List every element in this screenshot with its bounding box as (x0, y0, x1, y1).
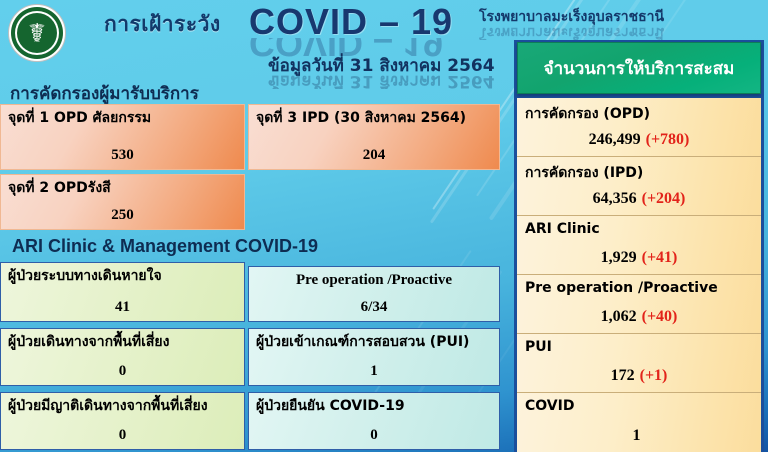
cumulative-row-screening-opd: การคัดกรอง (OPD) 246,499(+780) (517, 98, 761, 157)
row-value-wrap: 1,929(+41) (517, 249, 761, 267)
card-value: 0 (249, 427, 499, 444)
page-title-covid19: COVID – 19 (249, 1, 453, 43)
card-label: จุดที่ 3 IPD (30 สิงหาคม 2564) (256, 110, 494, 127)
ari-card-pre-operation-proactive: Pre operation /Proactive 6/34 (248, 266, 500, 322)
screening-card-opd-radiology: จุดที่ 2 OPDรังสี 250 (0, 174, 245, 230)
page-title-thai: การเฝ้าระวัง (104, 8, 221, 41)
card-label: ผู้ป่วยระบบทางเดินหายใจ (8, 268, 239, 285)
card-label: ผู้ป่วยเข้าเกณฑ์การสอบสวน (PUI) (256, 334, 494, 351)
card-label: Pre operation /Proactive (249, 272, 499, 289)
row-label: การคัดกรอง (IPD) (525, 162, 643, 184)
covid-surveillance-dashboard: ☤ การเฝ้าระวัง COVID – 19 COVID – 19 โรง… (0, 0, 768, 452)
card-value: 250 (1, 207, 244, 224)
row-delta: (+1) (640, 367, 668, 384)
row-label: ARI Clinic (525, 221, 600, 237)
cumulative-panel-heading: จำนวนการให้บริการสะสม (517, 42, 761, 94)
cumulative-row-screening-ipd: การคัดกรอง (IPD) 64,356(+204) (517, 157, 761, 216)
ari-card-respiratory-patients: ผู้ป่วยระบบทางเดินหายใจ 41 (0, 262, 245, 322)
screening-card-opd-surgery: จุดที่ 1 OPD ศัลยกรรม 530 (0, 104, 245, 170)
row-label: การคัดกรอง (OPD) (525, 103, 650, 125)
row-value-wrap: 64,356(+204) (517, 190, 761, 208)
ari-section-heading: ARI Clinic & Management COVID-19 (12, 236, 318, 257)
ari-card-relative-travel-from-risk-area: ผู้ป่วยมีญาติเดินทางจากพื้นที่เสี่ยง 0 (0, 392, 245, 450)
screening-section-heading: การคัดกรองผู้มารับบริการ (10, 80, 199, 107)
cumulative-row-pui: PUI 172(+1) (517, 334, 761, 393)
card-value: 0 (1, 363, 244, 380)
cumulative-heading-text: จำนวนการให้บริการสะสม (544, 55, 735, 82)
ari-card-pui: ผู้ป่วยเข้าเกณฑ์การสอบสวน (PUI) 1 (248, 328, 500, 386)
row-value: 1,062 (601, 308, 637, 325)
row-value: 64,356 (593, 190, 637, 207)
row-label: PUI (525, 339, 552, 355)
card-value: 530 (1, 147, 244, 164)
card-label: ผู้ป่วยยืนยัน COVID-19 (256, 398, 494, 415)
cumulative-row-covid: COVID 1 (517, 393, 761, 452)
row-delta: (+40) (642, 308, 678, 325)
ari-card-confirmed-covid19: ผู้ป่วยยืนยัน COVID-19 0 (248, 392, 500, 450)
cumulative-row-ari-clinic: ARI Clinic 1,929(+41) (517, 216, 761, 275)
card-label: ผู้ป่วยมีญาติเดินทางจากพื้นที่เสี่ยง (8, 398, 239, 415)
data-date-label: ข้อมูลวันที่ 31 สิงหาคม 2564 (268, 52, 495, 79)
card-value: 1 (249, 363, 499, 380)
card-label: ผู้ป่วยเดินทางจากพื้นที่เสี่ยง (8, 334, 239, 351)
row-value: 1 (633, 427, 641, 444)
row-value-wrap: 1 (517, 427, 761, 445)
row-delta: (+41) (642, 249, 678, 266)
row-delta: (+204) (642, 190, 686, 207)
row-value: 172 (611, 367, 635, 384)
hospital-name: โรงพยาบาลมะเร็งอุบลราชธานี (479, 6, 664, 28)
ari-card-travel-from-risk-area: ผู้ป่วยเดินทางจากพื้นที่เสี่ยง 0 (0, 328, 245, 386)
card-value: 41 (1, 299, 244, 316)
card-value: 6/34 (249, 299, 499, 316)
card-value: 204 (249, 147, 499, 164)
card-value: 0 (1, 427, 244, 444)
row-value-wrap: 172(+1) (517, 367, 761, 385)
row-delta: (+780) (646, 131, 690, 148)
row-value-wrap: 246,499(+780) (517, 131, 761, 149)
card-label: จุดที่ 2 OPDรังสี (8, 180, 239, 197)
screening-card-ipd: จุดที่ 3 IPD (30 สิงหาคม 2564) 204 (248, 104, 500, 170)
row-value-wrap: 1,062(+40) (517, 308, 761, 326)
cumulative-row-pre-operation-proactive: Pre operation /Proactive 1,062(+40) (517, 275, 761, 334)
row-value: 1,929 (601, 249, 637, 266)
row-value: 246,499 (589, 131, 641, 148)
card-label: จุดที่ 1 OPD ศัลยกรรม (8, 110, 239, 127)
row-label: COVID (525, 398, 574, 414)
row-label: Pre operation /Proactive (525, 280, 718, 296)
ministry-of-public-health-seal-icon: ☤ (8, 4, 66, 62)
